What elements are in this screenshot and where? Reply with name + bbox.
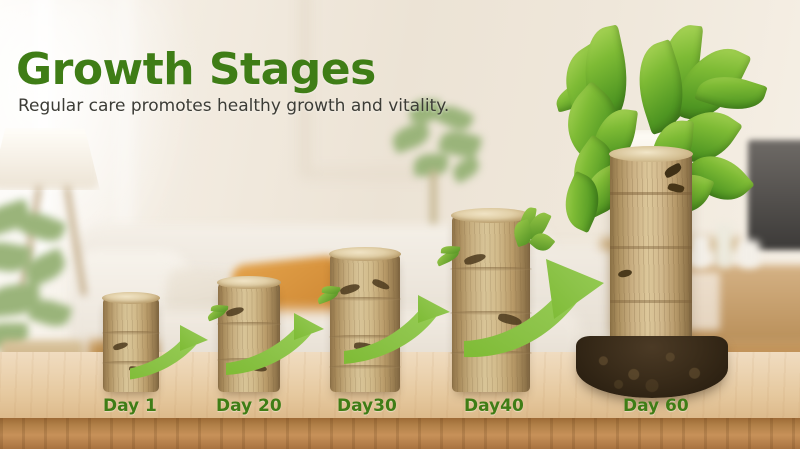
cane-top-cut bbox=[609, 146, 693, 162]
table-edge-grain bbox=[0, 418, 800, 449]
page-subtitle: Regular care promotes healthy growth and… bbox=[18, 96, 449, 116]
growth-stages-infographic: Growth Stages Regular care promotes heal… bbox=[0, 0, 800, 449]
day-label-3: Day30 bbox=[337, 396, 397, 416]
floor-lamp-shade bbox=[0, 128, 100, 190]
day-label-2: Day 20 bbox=[216, 396, 282, 416]
day-label-4: Day40 bbox=[464, 396, 524, 416]
growth-arrow bbox=[130, 245, 650, 385]
day-label-5: Day 60 bbox=[623, 396, 689, 416]
day-label-1: Day 1 bbox=[103, 396, 157, 416]
page-title: Growth Stages bbox=[16, 44, 376, 95]
